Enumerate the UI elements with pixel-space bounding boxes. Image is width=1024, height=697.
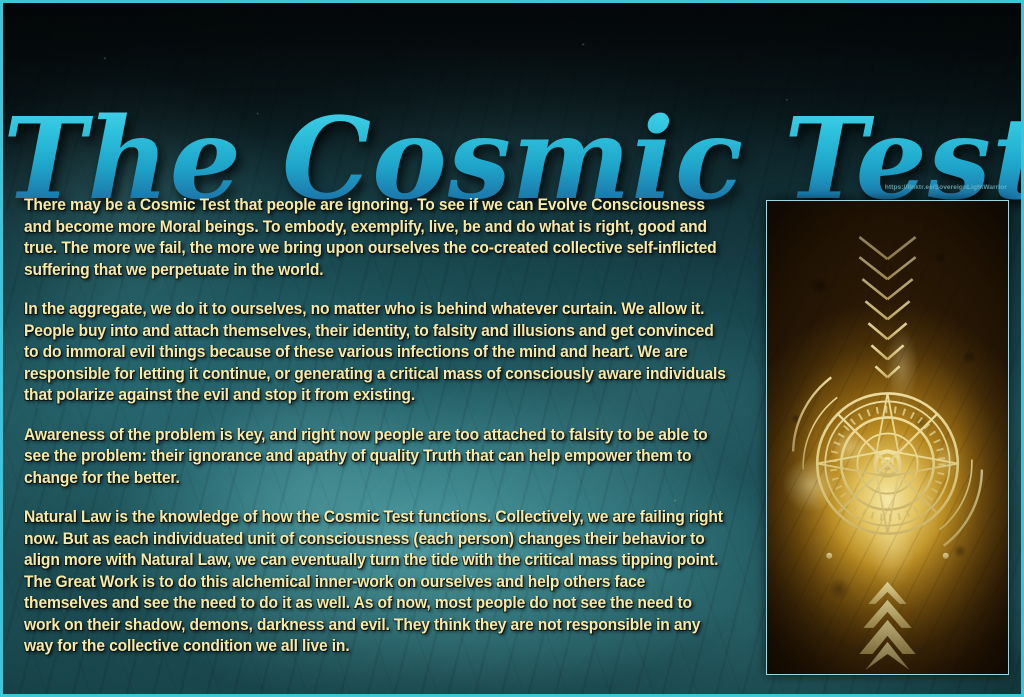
- compass-arrow-artwork-panel: [766, 200, 1009, 675]
- paragraph-3: Awareness of the problem is key, and rig…: [24, 425, 727, 490]
- credit-link[interactable]: https://linktr.ee/SovereignLightWarrior: [885, 184, 1007, 191]
- paragraph-4: Natural Law is the knowledge of how the …: [24, 507, 727, 658]
- paragraph-1: There may be a Cosmic Test that people a…: [24, 195, 727, 281]
- compass-arrow-icon: [767, 201, 1008, 674]
- cosmic-test-poster: The Cosmic Test There may be a Cosmic Te…: [0, 0, 1024, 697]
- body-copy: There may be a Cosmic Test that people a…: [24, 195, 752, 658]
- paragraph-2: In the aggregate, we do it to ourselves,…: [24, 299, 727, 407]
